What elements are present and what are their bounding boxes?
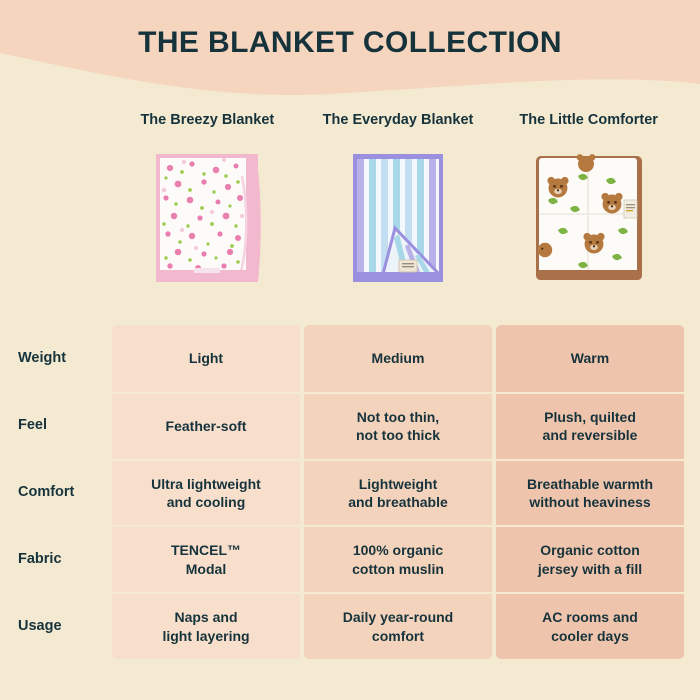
row-label-weight: Weight — [0, 325, 112, 392]
row-cells: Naps andlight layering Daily year-roundc… — [112, 592, 700, 659]
cell-weight-everyday: Medium — [304, 325, 492, 392]
little-comforter-photo — [514, 142, 664, 294]
cell-weight-comforter: Warm — [496, 325, 684, 392]
cell-usage-breezy: Naps andlight layering — [112, 592, 300, 659]
row-cells: Ultra lightweightand cooling Lightweight… — [112, 459, 700, 526]
breezy-blanket-illustration — [132, 142, 282, 294]
breezy-blanket-photo — [132, 142, 282, 294]
table-row: Fabric TENCEL™Modal 100% organiccotton m… — [0, 525, 700, 592]
product-column-1[interactable]: The Breezy Blanket — [112, 112, 303, 317]
row-label-comfort: Comfort — [0, 459, 112, 526]
row-label-feel: Feel — [0, 392, 112, 459]
product-columns: The Breezy Blanket — [112, 112, 684, 317]
row-cells: Feather-soft Not too thin,not too thick … — [112, 392, 700, 459]
cell-feel-comforter: Plush, quiltedand reversible — [496, 392, 684, 459]
product-name-comforter: The Little Comforter — [519, 112, 658, 129]
cell-feel-everyday: Not too thin,not too thick — [304, 392, 492, 459]
cell-fabric-comforter: Organic cottonjersey with a fill — [496, 525, 684, 592]
product-column-3[interactable]: The Little Comforter — [493, 112, 684, 317]
cell-comfort-comforter: Breathable warmthwithout heaviness — [496, 459, 684, 526]
everyday-blanket-photo — [323, 142, 473, 294]
comparison-table: Weight Light Medium Warm Feel Feather-so… — [0, 325, 700, 659]
cell-comfort-everyday: Lightweightand breathable — [304, 459, 492, 526]
row-cells: Light Medium Warm — [112, 325, 700, 392]
table-row: Comfort Ultra lightweightand cooling Lig… — [0, 459, 700, 526]
table-row: Usage Naps andlight layering Daily year-… — [0, 592, 700, 659]
little-comforter-illustration — [514, 142, 664, 294]
cell-usage-everyday: Daily year-roundcomfort — [304, 592, 492, 659]
cell-comfort-breezy: Ultra lightweightand cooling — [112, 459, 300, 526]
page-title: THE BLANKET COLLECTION — [0, 26, 700, 60]
cell-fabric-breezy: TENCEL™Modal — [112, 525, 300, 592]
table-row: Feel Feather-soft Not too thin,not too t… — [0, 392, 700, 459]
everyday-blanket-illustration — [323, 142, 473, 294]
cell-fabric-everyday: 100% organiccotton muslin — [304, 525, 492, 592]
cell-usage-comforter: AC rooms andcooler days — [496, 592, 684, 659]
cell-feel-breezy: Feather-soft — [112, 392, 300, 459]
product-name-breezy: The Breezy Blanket — [140, 112, 274, 129]
row-cells: TENCEL™Modal 100% organiccotton muslin O… — [112, 525, 700, 592]
table-row: Weight Light Medium Warm — [0, 325, 700, 392]
cell-weight-breezy: Light — [112, 325, 300, 392]
row-label-usage: Usage — [0, 592, 112, 659]
product-column-2[interactable]: The Everyday Blanket — [303, 112, 494, 317]
product-name-everyday: The Everyday Blanket — [323, 112, 474, 129]
row-label-fabric: Fabric — [0, 525, 112, 592]
